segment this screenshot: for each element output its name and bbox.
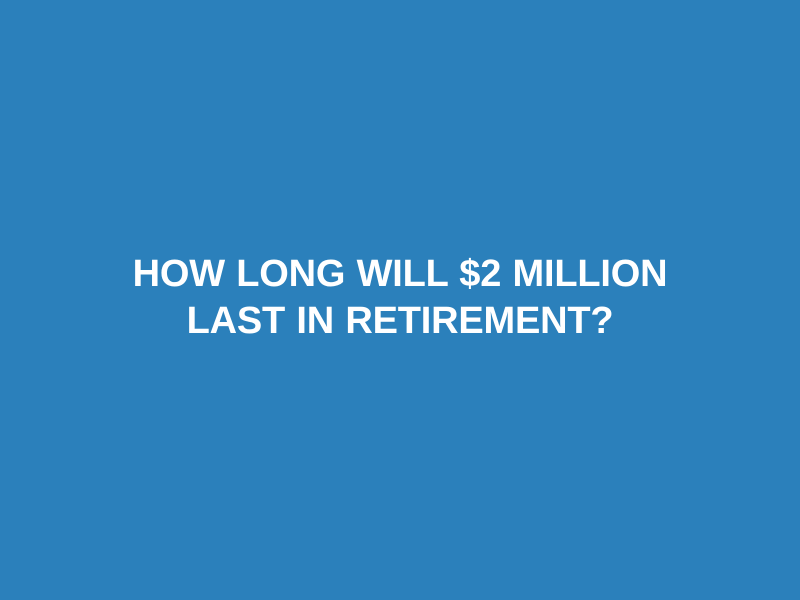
- article-banner: How long will $2 million last in retirem…: [0, 0, 800, 600]
- page-title: How long will $2 million last in retirem…: [100, 251, 700, 345]
- title-block: How long will $2 million last in retirem…: [100, 251, 700, 345]
